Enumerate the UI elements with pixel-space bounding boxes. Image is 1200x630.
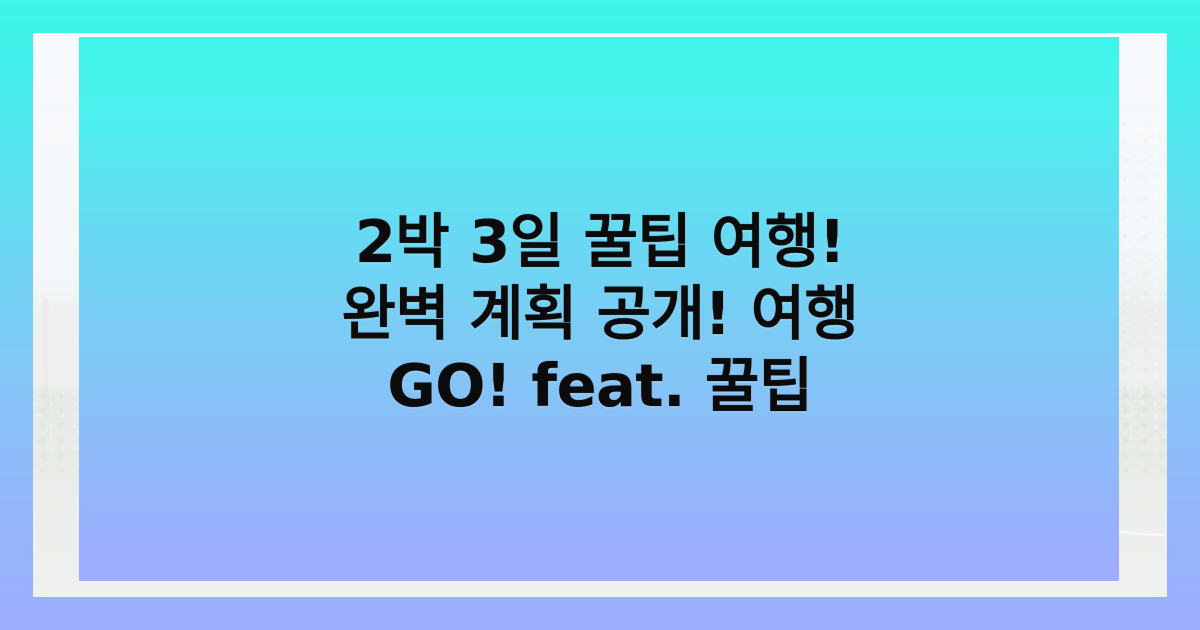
- title-block: 2박 3일 꿀팁 여행! 완벽 계획 공개! 여행 GO! feat. 꿀팁: [0, 0, 1200, 630]
- title-line-3: GO! feat. 꿀팁: [387, 350, 812, 422]
- title-line-1: 2박 3일 꿀팁 여행!: [355, 206, 845, 278]
- thumbnail-card: 2박 3일 꿀팁 여행! 완벽 계획 공개! 여행 GO! feat. 꿀팁: [0, 0, 1200, 630]
- title-line-2: 완벽 계획 공개! 여행: [342, 278, 859, 350]
